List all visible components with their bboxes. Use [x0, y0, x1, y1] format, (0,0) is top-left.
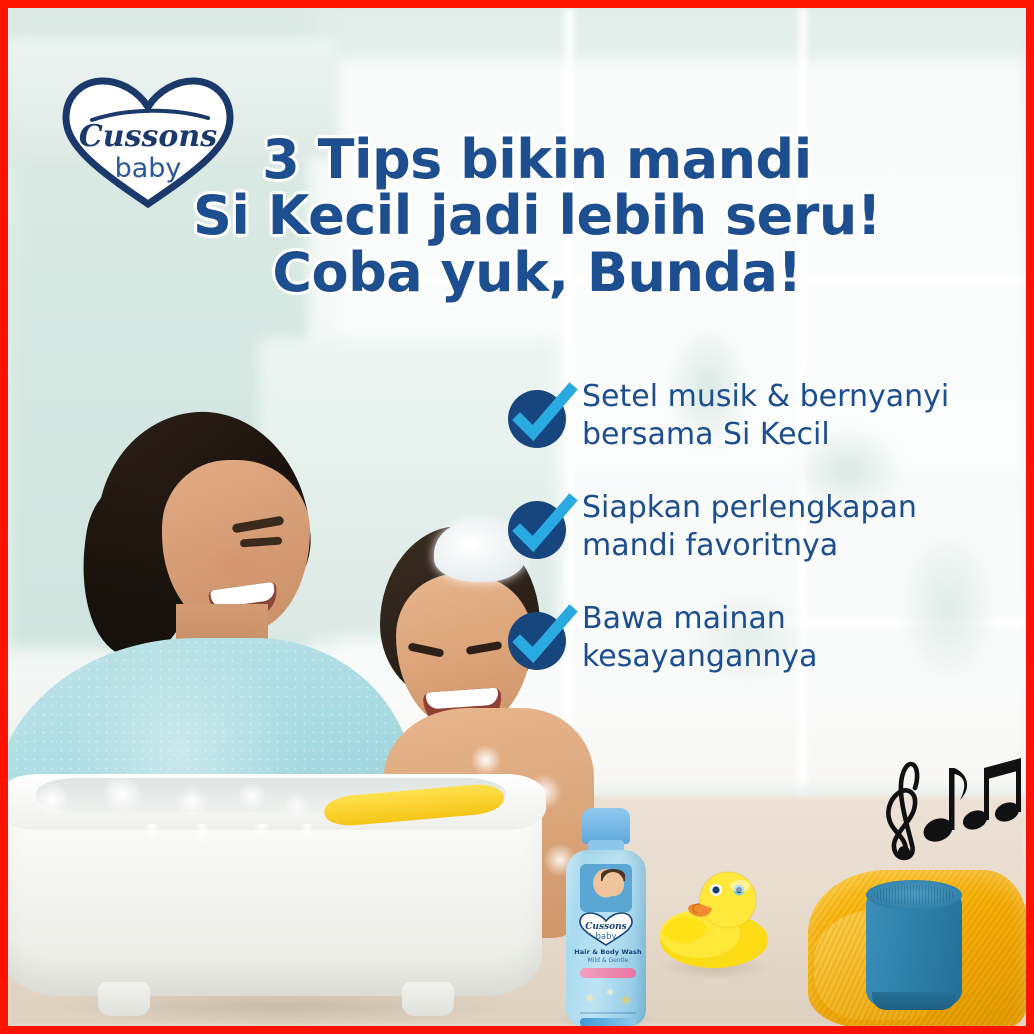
- bottle-pink-band: [580, 968, 636, 978]
- headline-line-3: Coba yuk, Bunda!: [48, 245, 1026, 301]
- ad-stage: Cussons baby 3 Tips bikin mandi Si Kecil…: [8, 8, 1026, 1026]
- tips-list: Setel musik & bernyanyi bersama Si Kecil…: [508, 376, 1008, 676]
- tip-text: Siapkan perlengkapan mandi favoritnya: [582, 487, 1008, 566]
- advertisement-canvas: Cussons baby 3 Tips bikin mandi Si Kecil…: [0, 0, 1034, 1034]
- treble-clef-icon: [888, 764, 917, 858]
- check-circle-icon: [508, 610, 566, 668]
- bathtub-foot-right: [402, 982, 454, 1016]
- bottle-chamomile-art: [576, 982, 640, 1010]
- tip-text: Bawa mainan kesayangannya: [582, 598, 1008, 677]
- list-item: Siapkan perlengkapan mandi favoritnya: [508, 487, 1008, 566]
- tip-text: Setel musik & bernyanyi bersama Si Kecil: [582, 376, 1008, 455]
- bottle-baby-head: [602, 872, 624, 896]
- music-notes: [876, 746, 1026, 866]
- bathtub-foam-drip: [132, 824, 332, 876]
- bottle-product-variant: Mild & Gentle: [566, 957, 650, 964]
- bottle-cap: [582, 808, 630, 844]
- beamed-notes-icon: [960, 758, 1022, 833]
- headline-line-1: 3 Tips bikin mandi: [48, 132, 1026, 188]
- page-title: 3 Tips bikin mandi Si Kecil jadi lebih s…: [8, 132, 1026, 301]
- list-item: Bawa mainan kesayangannya: [508, 598, 1008, 677]
- bluetooth-speaker: [866, 880, 962, 1006]
- speaker-body: [866, 894, 962, 1006]
- bottle-product-name: Hair & Body Wash: [566, 948, 650, 956]
- speaker-base: [872, 992, 956, 1010]
- bathtub-foot-left: [98, 982, 150, 1016]
- rubber-duck: [656, 854, 774, 972]
- check-circle-icon: [508, 388, 566, 446]
- mother-cheek: [200, 540, 270, 586]
- baby-bathtub: [8, 768, 562, 1026]
- bathtub-suds: [12, 770, 312, 822]
- bottle-blue-band: [580, 1018, 636, 1026]
- product-bottle: Cussons baby Hair & Body Wash Mild & Gen…: [564, 808, 648, 1026]
- bottle-body: Cussons baby Hair & Body Wash Mild & Gen…: [566, 850, 646, 1026]
- list-item: Setel musik & bernyanyi bersama Si Kecil: [508, 376, 1008, 455]
- speaker-grill: [874, 885, 954, 905]
- check-circle-icon: [508, 499, 566, 557]
- bottle-text-line-1: [580, 1012, 636, 1014]
- bottle-brand-line-1: Cussons: [585, 922, 626, 932]
- headline-line-2: Si Kecil jadi lebih seru!: [48, 188, 1026, 244]
- eighth-note-icon: [920, 768, 967, 846]
- bottle-logo-heart: Cussons baby: [578, 912, 634, 946]
- bottle-brand-line-2: baby: [595, 932, 616, 942]
